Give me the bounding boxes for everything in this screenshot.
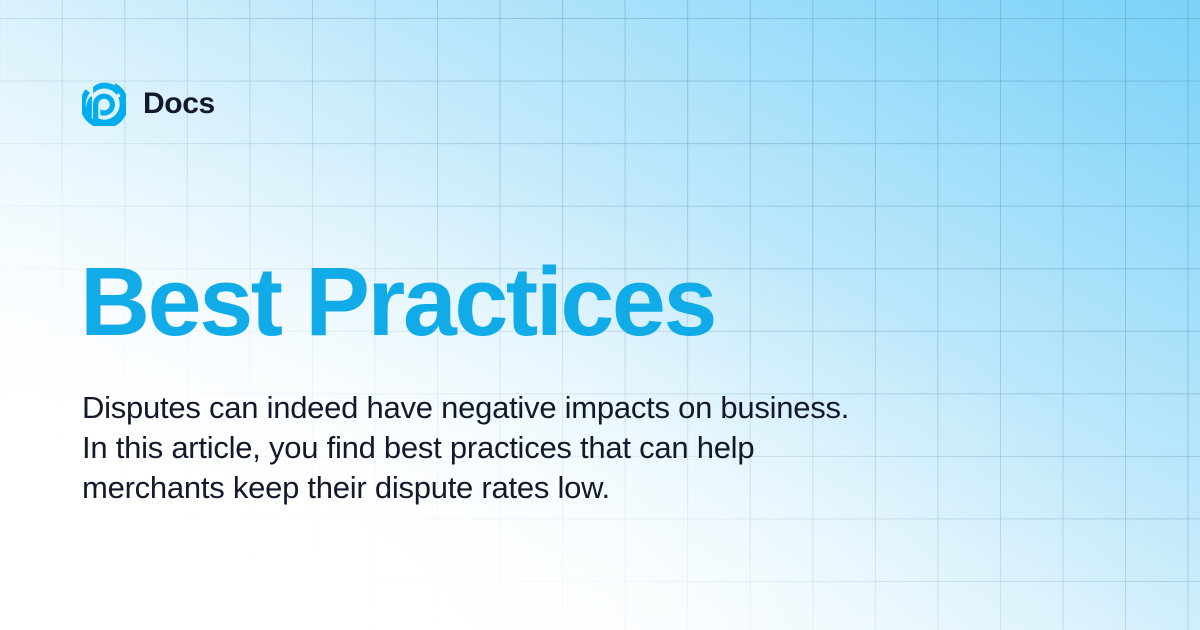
og-card: Docs Best Practices Disputes can indeed … xyxy=(0,0,1200,630)
card-content: Docs Best Practices Disputes can indeed … xyxy=(0,0,1200,630)
page-description: Disputes can indeed have negative impact… xyxy=(82,388,882,508)
brand-name-label: Docs xyxy=(143,89,215,119)
payoneer-p-circle-icon xyxy=(82,82,126,126)
brand-lockup[interactable]: Docs xyxy=(82,82,215,126)
page-title: Best Practices xyxy=(80,253,715,350)
